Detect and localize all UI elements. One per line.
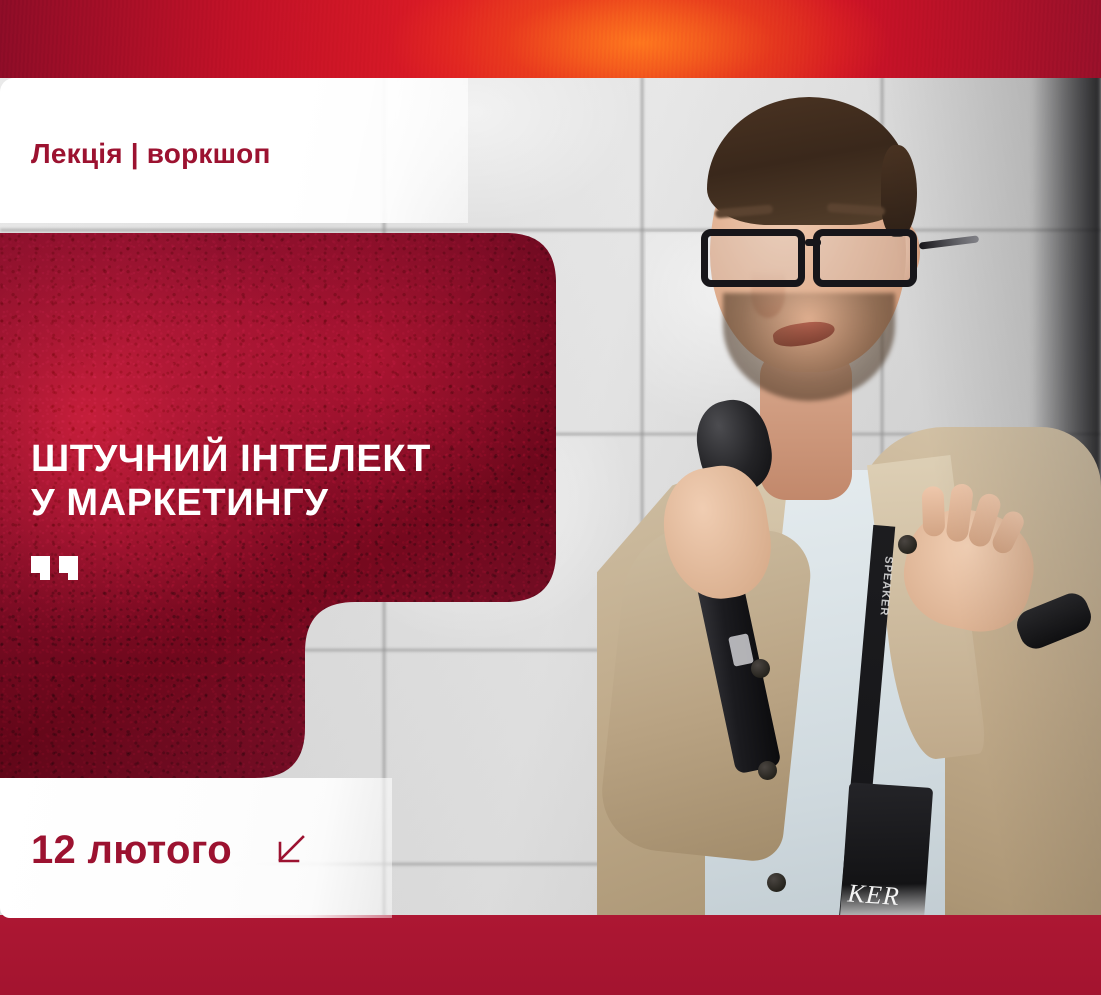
eyeglasses-icon (687, 223, 935, 295)
bottom-accent-bar (0, 915, 1101, 995)
arrow-down-left-icon (272, 833, 308, 869)
quotation-mark-icon (31, 556, 78, 578)
event-poster: SPEAKER KER Лекція | воркшоп Ш (0, 0, 1101, 995)
kicker-label: Лекція | воркшоп (31, 138, 271, 170)
speaker-photo: SPEAKER KER (555, 55, 1101, 995)
beard (723, 293, 895, 401)
top-accent-bar (0, 0, 1101, 78)
page-title: ШТУЧНИЙ ІНТЕЛЕКТ У МАРКЕТИНГУ (31, 437, 431, 526)
date-row: 12 лютого (31, 828, 308, 873)
badge-label: KER (847, 878, 901, 912)
title-line-1: ШТУЧНИЙ ІНТЕЛЕКТ (31, 437, 431, 481)
event-date: 12 лютого (31, 828, 232, 873)
title-line-2: У МАРКЕТИНГУ (31, 481, 431, 525)
